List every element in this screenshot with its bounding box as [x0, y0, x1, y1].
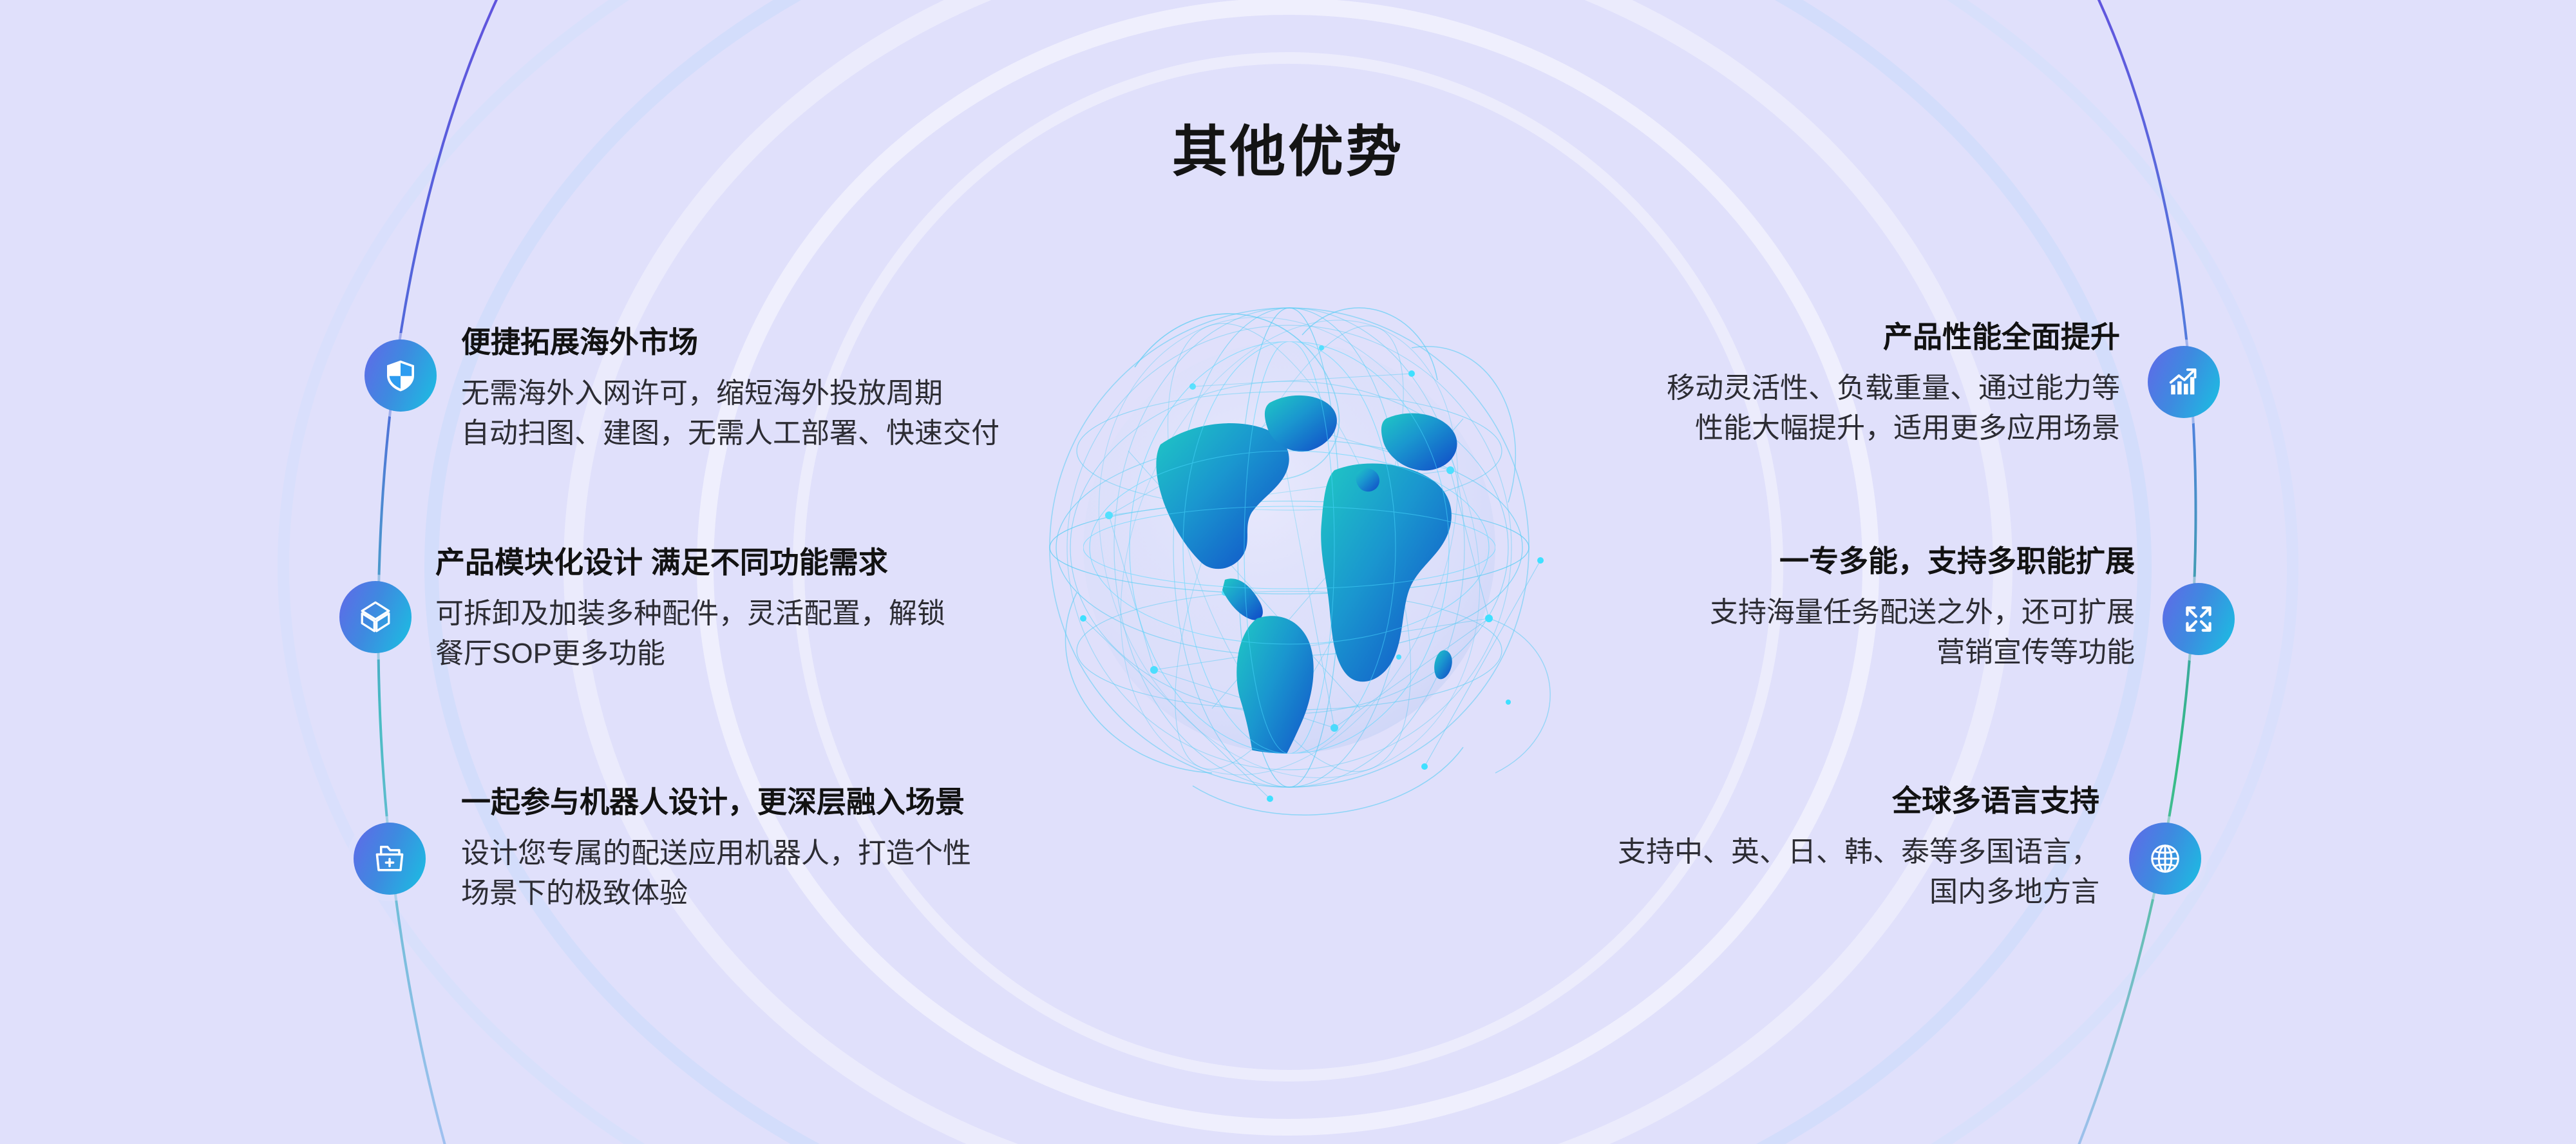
feature-block: 一起参与机器人设计，更深层融入场景 设计您专属的配送应用机器人，打造个性 场景下… [461, 787, 971, 914]
feature-line: 自动扫图、建图，无需人工部署、快速交付 [461, 414, 999, 453]
shield-icon[interactable] [365, 339, 437, 412]
growth-chart-icon[interactable] [2148, 346, 2220, 418]
page-title: 其他优势 [0, 106, 2576, 187]
feature-title: 便捷拓展海外市场 [461, 327, 999, 357]
feature-block: 一专多能，支持多职能扩展 支持海量任务配送之外，还可扩展 营销宣传等功能 [1417, 546, 2135, 673]
feature-line: 可拆卸及加装多种配件，灵活配置，解锁 [435, 594, 945, 634]
feature-line: 无需海外入网许可，缩短海外投放周期 [461, 374, 999, 414]
feature-line: 移动灵活性、负载重量、通过能力等 [1417, 368, 2120, 408]
folder-plus-icon[interactable] [354, 823, 426, 895]
feature-line: 营销宣传等功能 [1417, 633, 2135, 672]
feature-line: 国内多地方言 [1417, 872, 2099, 912]
feature-block: 便捷拓展海外市场 无需海外入网许可，缩短海外投放周期 自动扫图、建图，无需人工部… [461, 327, 999, 454]
feature-block: 产品性能全面提升 移动灵活性、负载重量、通过能力等 性能大幅提升，适用更多应用场… [1417, 322, 2120, 449]
feature-line: 餐厅SOP更多功能 [435, 634, 945, 674]
feature-title: 一专多能，支持多职能扩展 [1417, 546, 2135, 576]
globe-icon[interactable] [2129, 823, 2201, 895]
cube-icon[interactable] [339, 581, 412, 653]
feature-line: 设计您专属的配送应用机器人，打造个性 [461, 834, 971, 873]
expand-arrows-icon[interactable] [2163, 583, 2235, 655]
feature-title: 产品模块化设计 满足不同功能需求 [435, 548, 945, 577]
feature-block: 产品模块化设计 满足不同功能需求 可拆卸及加装多种配件，灵活配置，解锁 餐厅SO… [435, 548, 945, 674]
poster-stage: 其他优势 [0, 0, 2576, 1144]
feature-line: 支持海量任务配送之外，还可扩展 [1417, 593, 2135, 633]
feature-title: 一起参与机器人设计，更深层融入场景 [461, 787, 971, 817]
feature-title: 产品性能全面提升 [1417, 322, 2120, 352]
feature-title: 全球多语言支持 [1417, 786, 2099, 815]
feature-line: 场景下的极致体验 [461, 873, 971, 913]
feature-line: 支持中、英、日、韩、泰等多国语言， [1417, 832, 2099, 872]
feature-block: 全球多语言支持 支持中、英、日、韩、泰等多国语言， 国内多地方言 [1417, 786, 2099, 913]
feature-line: 性能大幅提升，适用更多应用场景 [1417, 408, 2120, 448]
